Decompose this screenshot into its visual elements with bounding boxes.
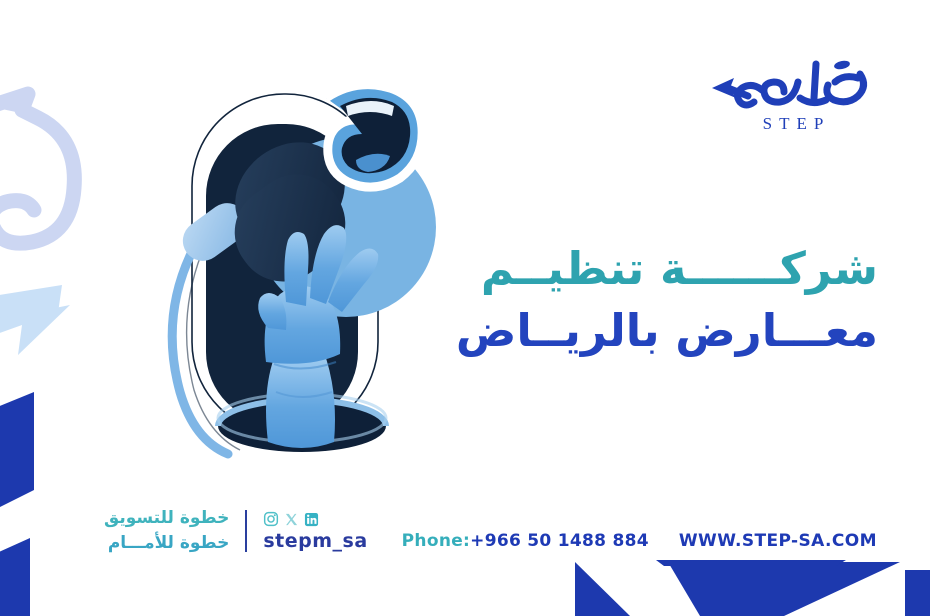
social-handle[interactable]: stepm_sa [263,530,367,552]
logo-wordmark: STEP [708,114,878,134]
poster-canvas: STEP [0,0,930,616]
website-url[interactable]: WWW.STEP-SA.COM [679,531,877,559]
footer-divider [245,510,247,552]
headline-line-2: معـــارض بالريــاض [438,300,878,362]
social-block: stepm_sa [263,510,367,552]
open-mouth-icon [326,85,422,187]
khutwa-script-logo-icon [708,52,878,118]
brand-tagline: خطوة للتسويق خطوة للأمـــام [104,506,229,555]
phone-block[interactable]: Phone:+966 50 1488 884 [402,531,649,559]
left-decorative-arrows [0,48,116,348]
social-icons [263,510,367,528]
brand-logo[interactable]: STEP [708,52,878,150]
hero-collage [150,62,470,482]
tagline-line-1: خطوة للتسويق [104,506,229,531]
right-pointing-arrow-icon [0,263,104,373]
phone-label: Phone: [402,531,470,551]
linkedin-icon[interactable] [304,512,319,527]
curved-swoosh-arrow-icon [0,48,116,348]
x-twitter-icon[interactable] [284,512,299,527]
footer-bar: خطوة للتسويق خطوة للأمـــام [104,503,877,559]
phone-number[interactable]: +966 50 1488 884 [470,531,649,551]
page-title: شركــــــة تنظيــم معـــارض بالريــاض [438,238,878,362]
headline-line-1: شركــــــة تنظيــم [438,238,878,300]
tagline-line-2: خطوة للأمـــام [104,531,229,556]
instagram-icon[interactable] [263,511,279,527]
